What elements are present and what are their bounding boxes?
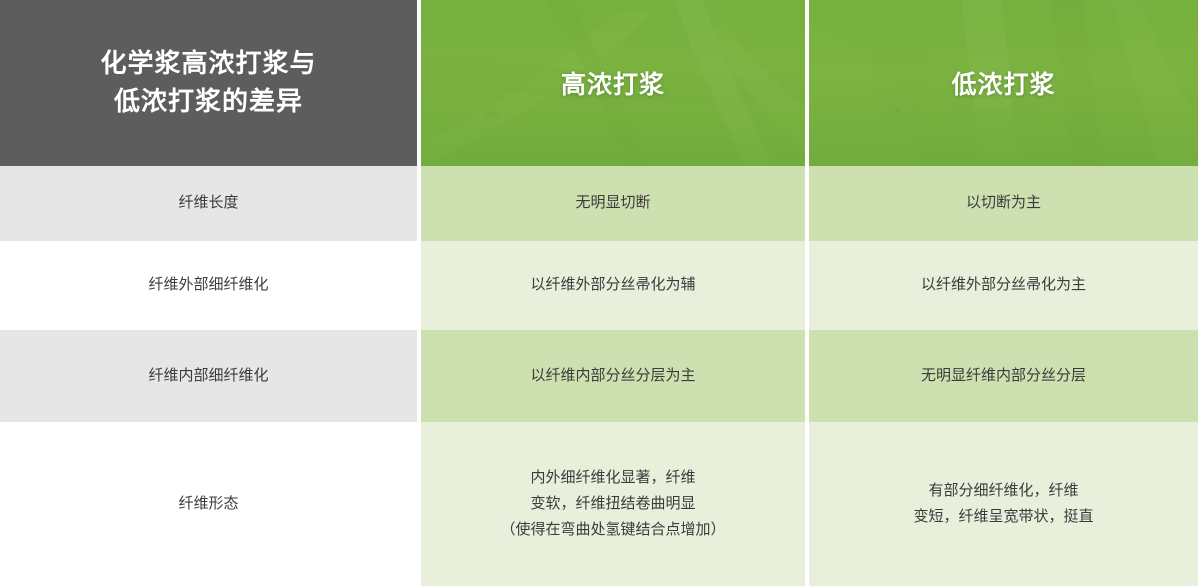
cell-line: 内外细纤维化显著，纤维	[500, 465, 725, 491]
column-labels: 化学浆高浓打浆与 低浓打浆的差异 纤维长度 纤维外部细纤维化 纤维内部细纤维化 …	[0, 0, 417, 586]
table-title-line2: 低浓打浆的差异	[114, 86, 303, 116]
cell-line: 以纤维外部分丝帚化为主	[921, 272, 1086, 298]
cell-high-3: 内外细纤维化显著，纤维 变软，纤维扭结卷曲明显 （使得在弯曲处氢键结合点增加）	[421, 422, 805, 586]
row-label-3: 纤维形态	[0, 422, 417, 586]
row-label-2: 纤维内部细纤维化	[0, 330, 417, 422]
column-header-high-label: 高浓打浆	[561, 65, 665, 101]
cell-low-3: 有部分细纤维化，纤维 变短，纤维呈宽带状，挺直	[809, 422, 1198, 586]
cell-low-2: 无明显纤维内部分丝分层	[809, 330, 1198, 422]
cell-high-2: 以纤维内部分丝分层为主	[421, 330, 805, 422]
row-label-0: 纤维长度	[0, 166, 417, 241]
cell-line: （使得在弯曲处氢键结合点增加）	[500, 517, 725, 543]
column-header-low: 低浓打浆	[809, 0, 1198, 166]
column-header-high: 高浓打浆	[421, 0, 805, 166]
column-low-consistency: 低浓打浆 以切断为主 以纤维外部分丝帚化为主 无明显纤维内部分丝分层 有部分细纤…	[809, 0, 1198, 586]
table-title-line1: 化学浆高浓打浆与	[100, 48, 316, 78]
comparison-table: 化学浆高浓打浆与 低浓打浆的差异 纤维长度 纤维外部细纤维化 纤维内部细纤维化 …	[0, 0, 1198, 586]
cell-high-0: 无明显切断	[421, 166, 805, 241]
cell-line: 无明显纤维内部分丝分层	[921, 363, 1086, 389]
cell-line: 无明显切断	[575, 190, 650, 216]
cell-line: 以切断为主	[966, 190, 1041, 216]
row-label-1: 纤维外部细纤维化	[0, 241, 417, 330]
cell-line: 以纤维内部分丝分层为主	[530, 363, 695, 389]
column-high-consistency: 高浓打浆 无明显切断 以纤维外部分丝帚化为辅 以纤维内部分丝分层为主 内外细纤维…	[421, 0, 805, 586]
cell-low-0: 以切断为主	[809, 166, 1198, 241]
cell-line: 变短，纤维呈宽带状，挺直	[913, 504, 1093, 530]
cell-high-1: 以纤维外部分丝帚化为辅	[421, 241, 805, 330]
column-header-low-label: 低浓打浆	[951, 65, 1055, 101]
cell-line: 有部分细纤维化，纤维	[913, 478, 1093, 504]
cell-low-1: 以纤维外部分丝帚化为主	[809, 241, 1198, 330]
cell-line: 以纤维外部分丝帚化为辅	[530, 272, 695, 298]
table-title-cell: 化学浆高浓打浆与 低浓打浆的差异	[0, 0, 417, 166]
cell-line: 变软，纤维扭结卷曲明显	[500, 491, 725, 517]
